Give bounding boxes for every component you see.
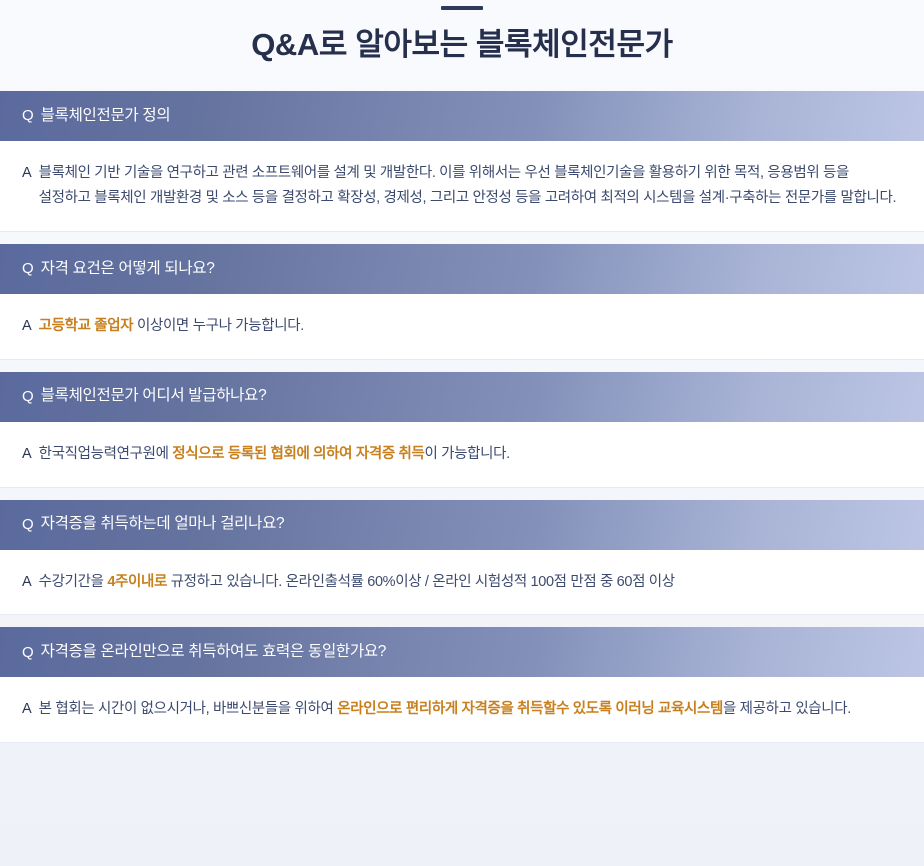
question-text: 자격증을 온라인만으로 취득하여도 효력은 동일한가요? xyxy=(41,642,386,662)
qa-answer-panel-5: A본 협회는 시간이 없으시거나, 바쁘신분들을 위하여 온라인으로 편리하게 … xyxy=(0,677,924,743)
answer-segment: 본 협회는 시간이 없으시거나, 바쁘신분들을 위하여 xyxy=(39,701,338,717)
qa-question-header-1[interactable]: Q블록체인전문가 정의 xyxy=(0,91,924,141)
answer-highlight: 온라인으로 편리하게 자격증을 취득할수 있도록 이러닝 교육시스템 xyxy=(337,701,723,717)
answer-segment: 을 제공하고 있습니다. xyxy=(723,701,851,717)
answer-highlight: 고등학교 졸업자 xyxy=(39,318,134,334)
qa-question-header-4[interactable]: Q자격증을 취득하는데 얼마나 걸리나요? xyxy=(0,500,924,550)
question-marker: Q xyxy=(22,517,34,532)
qa-card: Q블록체인전문가 정의A블록체인 기반 기술을 연구하고 관련 소프트웨어를 설… xyxy=(0,91,924,232)
question-marker: Q xyxy=(22,389,34,404)
page-title: Q&A로 알아보는 블록체인전문가 xyxy=(0,14,924,91)
question-text: 블록체인전문가 어디서 발급하나요? xyxy=(41,386,267,406)
qa-question-header-2[interactable]: Q자격 요건은 어떻게 되나요? xyxy=(0,244,924,294)
answer-segment: 블록체인 기반 기술을 연구하고 관련 소프트웨어를 설계 및 개발한다. 이를… xyxy=(39,165,896,206)
answer-text: 한국직업능력연구원에 정식으로 등록된 협회에 의하여 자격증 취득이 가능합니… xyxy=(39,442,900,467)
qa-card: Q자격 요건은 어떻게 되나요?A고등학교 졸업자 이상이면 누구나 가능합니다… xyxy=(0,244,924,360)
question-marker: Q xyxy=(22,108,34,123)
answer-highlight: 정식으로 등록된 협회에 의하여 자격증 취득 xyxy=(172,446,424,462)
answer-marker: A xyxy=(22,161,32,186)
question-marker: Q xyxy=(22,261,34,276)
qa-answer-panel-1: A블록체인 기반 기술을 연구하고 관련 소프트웨어를 설계 및 개발한다. 이… xyxy=(0,141,924,232)
qa-card: Q블록체인전문가 어디서 발급하나요?A한국직업능력연구원에 정식으로 등록된 … xyxy=(0,372,924,488)
question-text: 자격 요건은 어떻게 되나요? xyxy=(41,259,215,279)
qa-card: Q자격증을 온라인만으로 취득하여도 효력은 동일한가요?A본 협회는 시간이 … xyxy=(0,627,924,743)
answer-marker: A xyxy=(22,697,32,722)
answer-marker: A xyxy=(22,442,32,467)
qa-answer-panel-2: A고등학교 졸업자 이상이면 누구나 가능합니다. xyxy=(0,294,924,360)
question-marker: Q xyxy=(22,645,34,660)
qa-answer-panel-4: A수강기간을 4주이내로 규정하고 있습니다. 온라인출석률 60%이상 / 온… xyxy=(0,550,924,616)
question-text: 블록체인전문가 정의 xyxy=(41,106,171,126)
answer-text: 고등학교 졸업자 이상이면 누구나 가능합니다. xyxy=(39,314,900,339)
answer-segment: 수강기간을 xyxy=(39,574,108,590)
answer-text: 수강기간을 4주이내로 규정하고 있습니다. 온라인출석률 60%이상 / 온라… xyxy=(39,570,900,595)
qa-answer-panel-3: A한국직업능력연구원에 정식으로 등록된 협회에 의하여 자격증 취득이 가능합… xyxy=(0,422,924,488)
qa-question-header-5[interactable]: Q자격증을 온라인만으로 취득하여도 효력은 동일한가요? xyxy=(0,627,924,677)
top-divider-wrap xyxy=(0,0,924,14)
qa-card: Q자격증을 취득하는데 얼마나 걸리나요?A수강기간을 4주이내로 규정하고 있… xyxy=(0,500,924,616)
answer-marker: A xyxy=(22,314,32,339)
qa-question-header-3[interactable]: Q블록체인전문가 어디서 발급하나요? xyxy=(0,372,924,422)
qa-list: Q블록체인전문가 정의A블록체인 기반 기술을 연구하고 관련 소프트웨어를 설… xyxy=(0,91,924,744)
answer-segment: 규정하고 있습니다. 온라인출석률 60%이상 / 온라인 시험성적 100점 … xyxy=(167,574,675,590)
answer-highlight: 4주이내로 xyxy=(107,574,167,590)
title-divider xyxy=(441,6,483,10)
answer-segment: 이 가능합니다. xyxy=(424,446,509,462)
qa-page: Q&A로 알아보는 블록체인전문가 Q블록체인전문가 정의A블록체인 기반 기술… xyxy=(0,0,924,866)
answer-marker: A xyxy=(22,570,32,595)
question-text: 자격증을 취득하는데 얼마나 걸리나요? xyxy=(41,514,285,534)
answer-segment: 이상이면 누구나 가능합니다. xyxy=(133,318,304,334)
answer-text: 본 협회는 시간이 없으시거나, 바쁘신분들을 위하여 온라인으로 편리하게 자… xyxy=(39,697,900,722)
answer-text: 블록체인 기반 기술을 연구하고 관련 소프트웨어를 설계 및 개발한다. 이를… xyxy=(39,161,900,211)
answer-segment: 한국직업능력연구원에 xyxy=(39,446,173,462)
